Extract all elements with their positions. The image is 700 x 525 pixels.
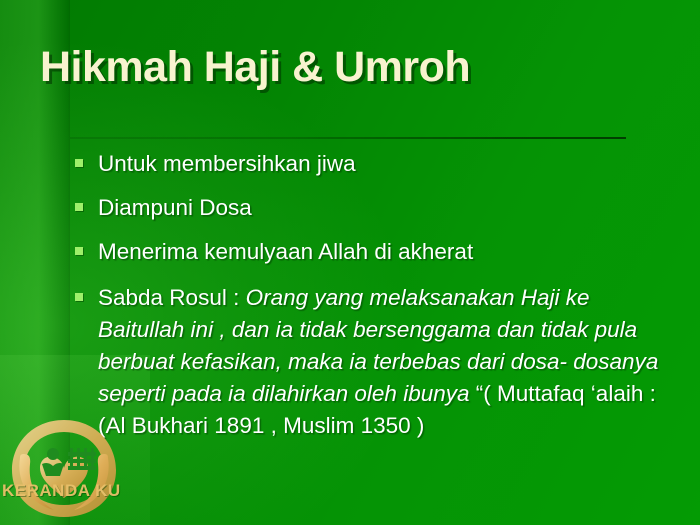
list-item: Menerima kemulyaan Allah di akherat (70, 236, 682, 267)
bullet-square-icon (75, 203, 83, 211)
list-item-label: Diampuni Dosa (98, 195, 252, 220)
list-item: Untuk membersihkan jiwa (70, 148, 682, 179)
title-divider (70, 137, 626, 139)
hadith-lead: Sabda Rosul : (98, 285, 246, 310)
list-item-label: Untuk membersihkan jiwa (98, 151, 356, 176)
bullet-square-icon (75, 247, 83, 255)
list-item-hadith: Sabda Rosul : Orang yang melaksanakan Ha… (70, 282, 682, 442)
presentation-slide: Hikmah Haji & Umroh Untuk membersihkan j… (0, 0, 700, 525)
bullet-square-icon (75, 159, 83, 167)
bullet-square-icon (75, 293, 83, 301)
list-item-label: Menerima kemulyaan Allah di akherat (98, 239, 473, 264)
logo-wordmark: KERANDA KU (2, 481, 121, 501)
slide-title: Hikmah Haji & Umroh (40, 43, 470, 92)
list-item: Diampuni Dosa (70, 192, 682, 223)
bullet-list: Untuk membersihkan jiwa Diampuni Dosa Me… (70, 148, 682, 442)
